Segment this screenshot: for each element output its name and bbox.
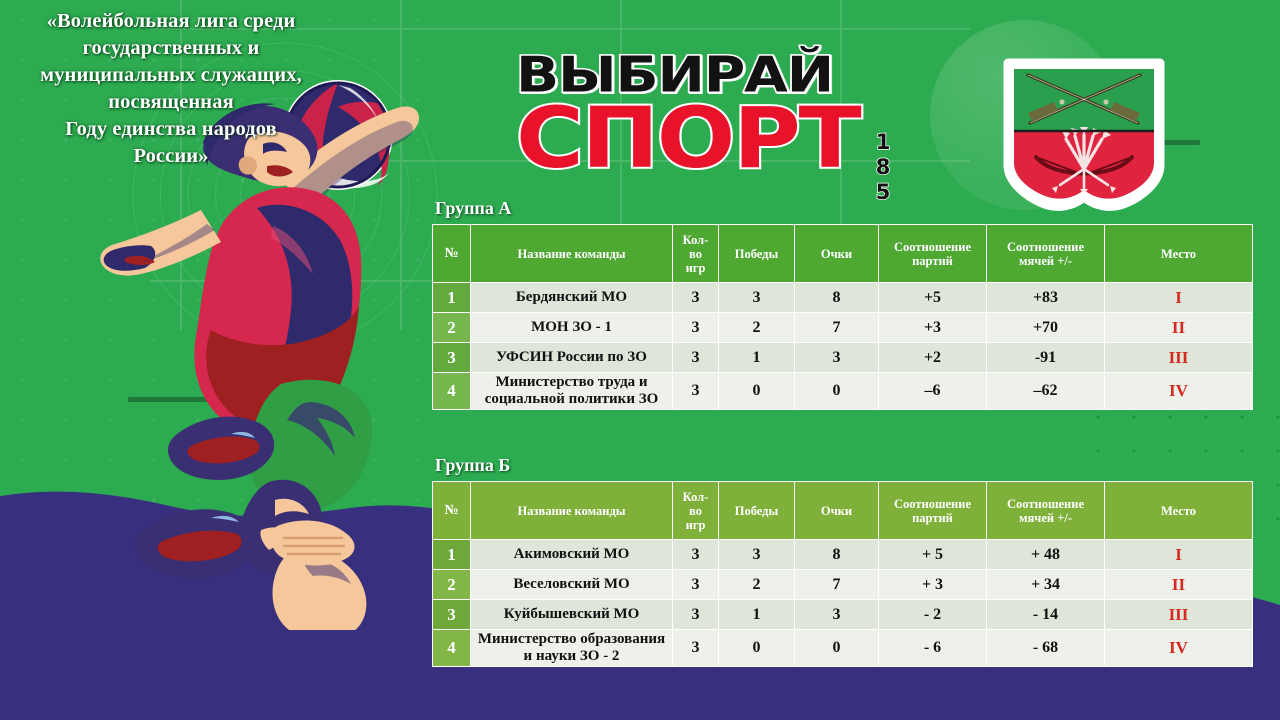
col-header-games-l1: Кол- bbox=[683, 490, 709, 504]
cell-sets: +5 bbox=[879, 283, 987, 313]
cell-games: 3 bbox=[673, 630, 719, 667]
table-row: 4 Министерство образования и науки ЗО - … bbox=[433, 630, 1253, 667]
cell-number: 2 bbox=[433, 313, 471, 343]
cell-balls: - 68 bbox=[987, 630, 1105, 667]
cell-games: 3 bbox=[673, 373, 719, 410]
col-header-wins: Победы bbox=[719, 225, 795, 283]
col-header-games-l2: во bbox=[689, 504, 702, 518]
cell-wins: 1 bbox=[719, 343, 795, 373]
cell-wins: 0 bbox=[719, 373, 795, 410]
cell-points: 8 bbox=[795, 540, 879, 570]
cell-number: 4 bbox=[433, 373, 471, 410]
cell-wins: 2 bbox=[719, 570, 795, 600]
cell-place: III bbox=[1105, 600, 1253, 630]
standings-table-group-a: № Название команды Кол- во игр Победы Оч… bbox=[432, 224, 1253, 410]
brand-logo: ВЫБИРАЙ СПОРТ 185 bbox=[516, 52, 828, 176]
cell-wins: 1 bbox=[719, 600, 795, 630]
cell-number: 2 bbox=[433, 570, 471, 600]
cell-place: IV bbox=[1105, 630, 1253, 667]
cell-team: Веселовский МО bbox=[471, 570, 673, 600]
col-header-balls: Соотношение мячей +/- bbox=[987, 482, 1105, 540]
cell-sets: +2 bbox=[879, 343, 987, 373]
table-row: 1 Бердянский МО 3 3 8 +5 +83 I bbox=[433, 283, 1253, 313]
cell-team: Акимовский МО bbox=[471, 540, 673, 570]
cell-balls: + 48 bbox=[987, 540, 1105, 570]
poster-title: «Волейбольная лига среди государственных… bbox=[6, 8, 336, 170]
standings-table-group-b: № Название команды Кол- во игр Победы Оч… bbox=[432, 481, 1253, 667]
table-row: 2 Веселовский МО 3 2 7 + 3 + 34 II bbox=[433, 570, 1253, 600]
cell-team: Министерство образования и науки ЗО - 2 bbox=[471, 630, 673, 667]
col-header-balls-l2: мячей +/- bbox=[1019, 511, 1072, 525]
coat-of-arms-emblem bbox=[1000, 57, 1168, 217]
col-header-sets: Соотношение партий bbox=[879, 225, 987, 283]
cell-games: 3 bbox=[673, 570, 719, 600]
cell-balls: + 34 bbox=[987, 570, 1105, 600]
col-header-number: № bbox=[433, 225, 471, 283]
cell-points: 7 bbox=[795, 313, 879, 343]
cell-place: I bbox=[1105, 283, 1253, 313]
cell-sets: + 3 bbox=[879, 570, 987, 600]
cell-games: 3 bbox=[673, 540, 719, 570]
col-header-sets-l1: Соотношение bbox=[894, 240, 971, 254]
col-header-games: Кол- во игр bbox=[673, 225, 719, 283]
cell-number: 4 bbox=[433, 630, 471, 667]
title-line-2: государственных и bbox=[6, 35, 336, 62]
col-header-games-l3: игр bbox=[686, 518, 706, 532]
cell-balls: -91 bbox=[987, 343, 1105, 373]
cell-games: 3 bbox=[673, 600, 719, 630]
col-header-balls: Соотношение мячей +/- bbox=[987, 225, 1105, 283]
table-row: 3 УФСИН России по ЗО 3 1 3 +2 -91 III bbox=[433, 343, 1253, 373]
poster-canvas: «Волейбольная лига среди государственных… bbox=[0, 0, 1280, 720]
cell-team: УФСИН России по ЗО bbox=[471, 343, 673, 373]
cell-games: 3 bbox=[673, 283, 719, 313]
cell-sets: + 5 bbox=[879, 540, 987, 570]
cell-sets: - 6 bbox=[879, 630, 987, 667]
title-line-5: Году единства народов bbox=[6, 116, 336, 143]
col-header-number: № bbox=[433, 482, 471, 540]
col-header-team: Название команды bbox=[471, 482, 673, 540]
table-header-row: № Название команды Кол- во игр Победы Оч… bbox=[433, 482, 1253, 540]
col-header-wins: Победы bbox=[719, 482, 795, 540]
cell-team: Куйбышевский МО bbox=[471, 600, 673, 630]
col-header-points: Очки bbox=[795, 225, 879, 283]
col-header-games-l1: Кол- bbox=[683, 233, 709, 247]
col-header-sets-l1: Соотношение bbox=[894, 497, 971, 511]
cell-team: Министерство труда и социальной политики… bbox=[471, 373, 673, 410]
title-line-4: посвященная bbox=[6, 89, 336, 116]
cell-balls: –62 bbox=[987, 373, 1105, 410]
col-header-sets: Соотношение партий bbox=[879, 482, 987, 540]
brand-word-sport: СПОРТ bbox=[516, 100, 859, 176]
cell-points: 0 bbox=[795, 373, 879, 410]
table-row: 3 Куйбышевский МО 3 1 3 - 2 - 14 III bbox=[433, 600, 1253, 630]
cell-team: Бердянский МО bbox=[471, 283, 673, 313]
cell-wins: 2 bbox=[719, 313, 795, 343]
cell-number: 1 bbox=[433, 283, 471, 313]
table-header-row: № Название команды Кол- во игр Победы Оч… bbox=[433, 225, 1253, 283]
table-row: 4 Министерство труда и социальной полити… bbox=[433, 373, 1253, 410]
brand-number-185: 185 bbox=[872, 130, 893, 205]
col-header-games-l2: во bbox=[689, 247, 702, 261]
col-header-sets-l2: партий bbox=[912, 254, 953, 268]
col-header-team: Название команды bbox=[471, 225, 673, 283]
table-row: 2 МОН ЗО - 1 3 2 7 +3 +70 II bbox=[433, 313, 1253, 343]
cell-place: I bbox=[1105, 540, 1253, 570]
cell-sets: –6 bbox=[879, 373, 987, 410]
cell-place: II bbox=[1105, 313, 1253, 343]
table-row: 1 Акимовский МО 3 3 8 + 5 + 48 I bbox=[433, 540, 1253, 570]
cell-balls: +70 bbox=[987, 313, 1105, 343]
col-header-balls-l2: мячей +/- bbox=[1019, 254, 1072, 268]
col-header-sets-l2: партий bbox=[912, 511, 953, 525]
cell-place: III bbox=[1105, 343, 1253, 373]
cell-sets: +3 bbox=[879, 313, 987, 343]
col-header-place: Место bbox=[1105, 482, 1253, 540]
title-line-1: «Волейбольная лига среди bbox=[6, 8, 336, 35]
col-header-place: Место bbox=[1105, 225, 1253, 283]
cell-games: 3 bbox=[673, 343, 719, 373]
cell-points: 3 bbox=[795, 343, 879, 373]
cell-number: 1 bbox=[433, 540, 471, 570]
col-header-points: Очки bbox=[795, 482, 879, 540]
cell-wins: 3 bbox=[719, 540, 795, 570]
col-header-balls-l1: Соотношение bbox=[1007, 497, 1084, 511]
cell-number: 3 bbox=[433, 600, 471, 630]
cell-points: 0 bbox=[795, 630, 879, 667]
cell-number: 3 bbox=[433, 343, 471, 373]
cell-balls: +83 bbox=[987, 283, 1105, 313]
title-line-3: муниципальных служащих, bbox=[6, 62, 336, 89]
col-header-games: Кол- во игр bbox=[673, 482, 719, 540]
cell-sets: - 2 bbox=[879, 600, 987, 630]
cell-points: 7 bbox=[795, 570, 879, 600]
col-header-games-l3: игр bbox=[686, 261, 706, 275]
cell-games: 3 bbox=[673, 313, 719, 343]
cell-place: IV bbox=[1105, 373, 1253, 410]
cell-balls: - 14 bbox=[987, 600, 1105, 630]
cell-team: МОН ЗО - 1 bbox=[471, 313, 673, 343]
title-line-6: России» bbox=[6, 143, 336, 170]
group-b-label: Группа Б bbox=[435, 455, 510, 476]
col-header-balls-l1: Соотношение bbox=[1007, 240, 1084, 254]
cell-wins: 3 bbox=[719, 283, 795, 313]
group-a-label: Группа А bbox=[435, 198, 511, 219]
cell-points: 8 bbox=[795, 283, 879, 313]
cell-place: II bbox=[1105, 570, 1253, 600]
cell-wins: 0 bbox=[719, 630, 795, 667]
cell-points: 3 bbox=[795, 600, 879, 630]
